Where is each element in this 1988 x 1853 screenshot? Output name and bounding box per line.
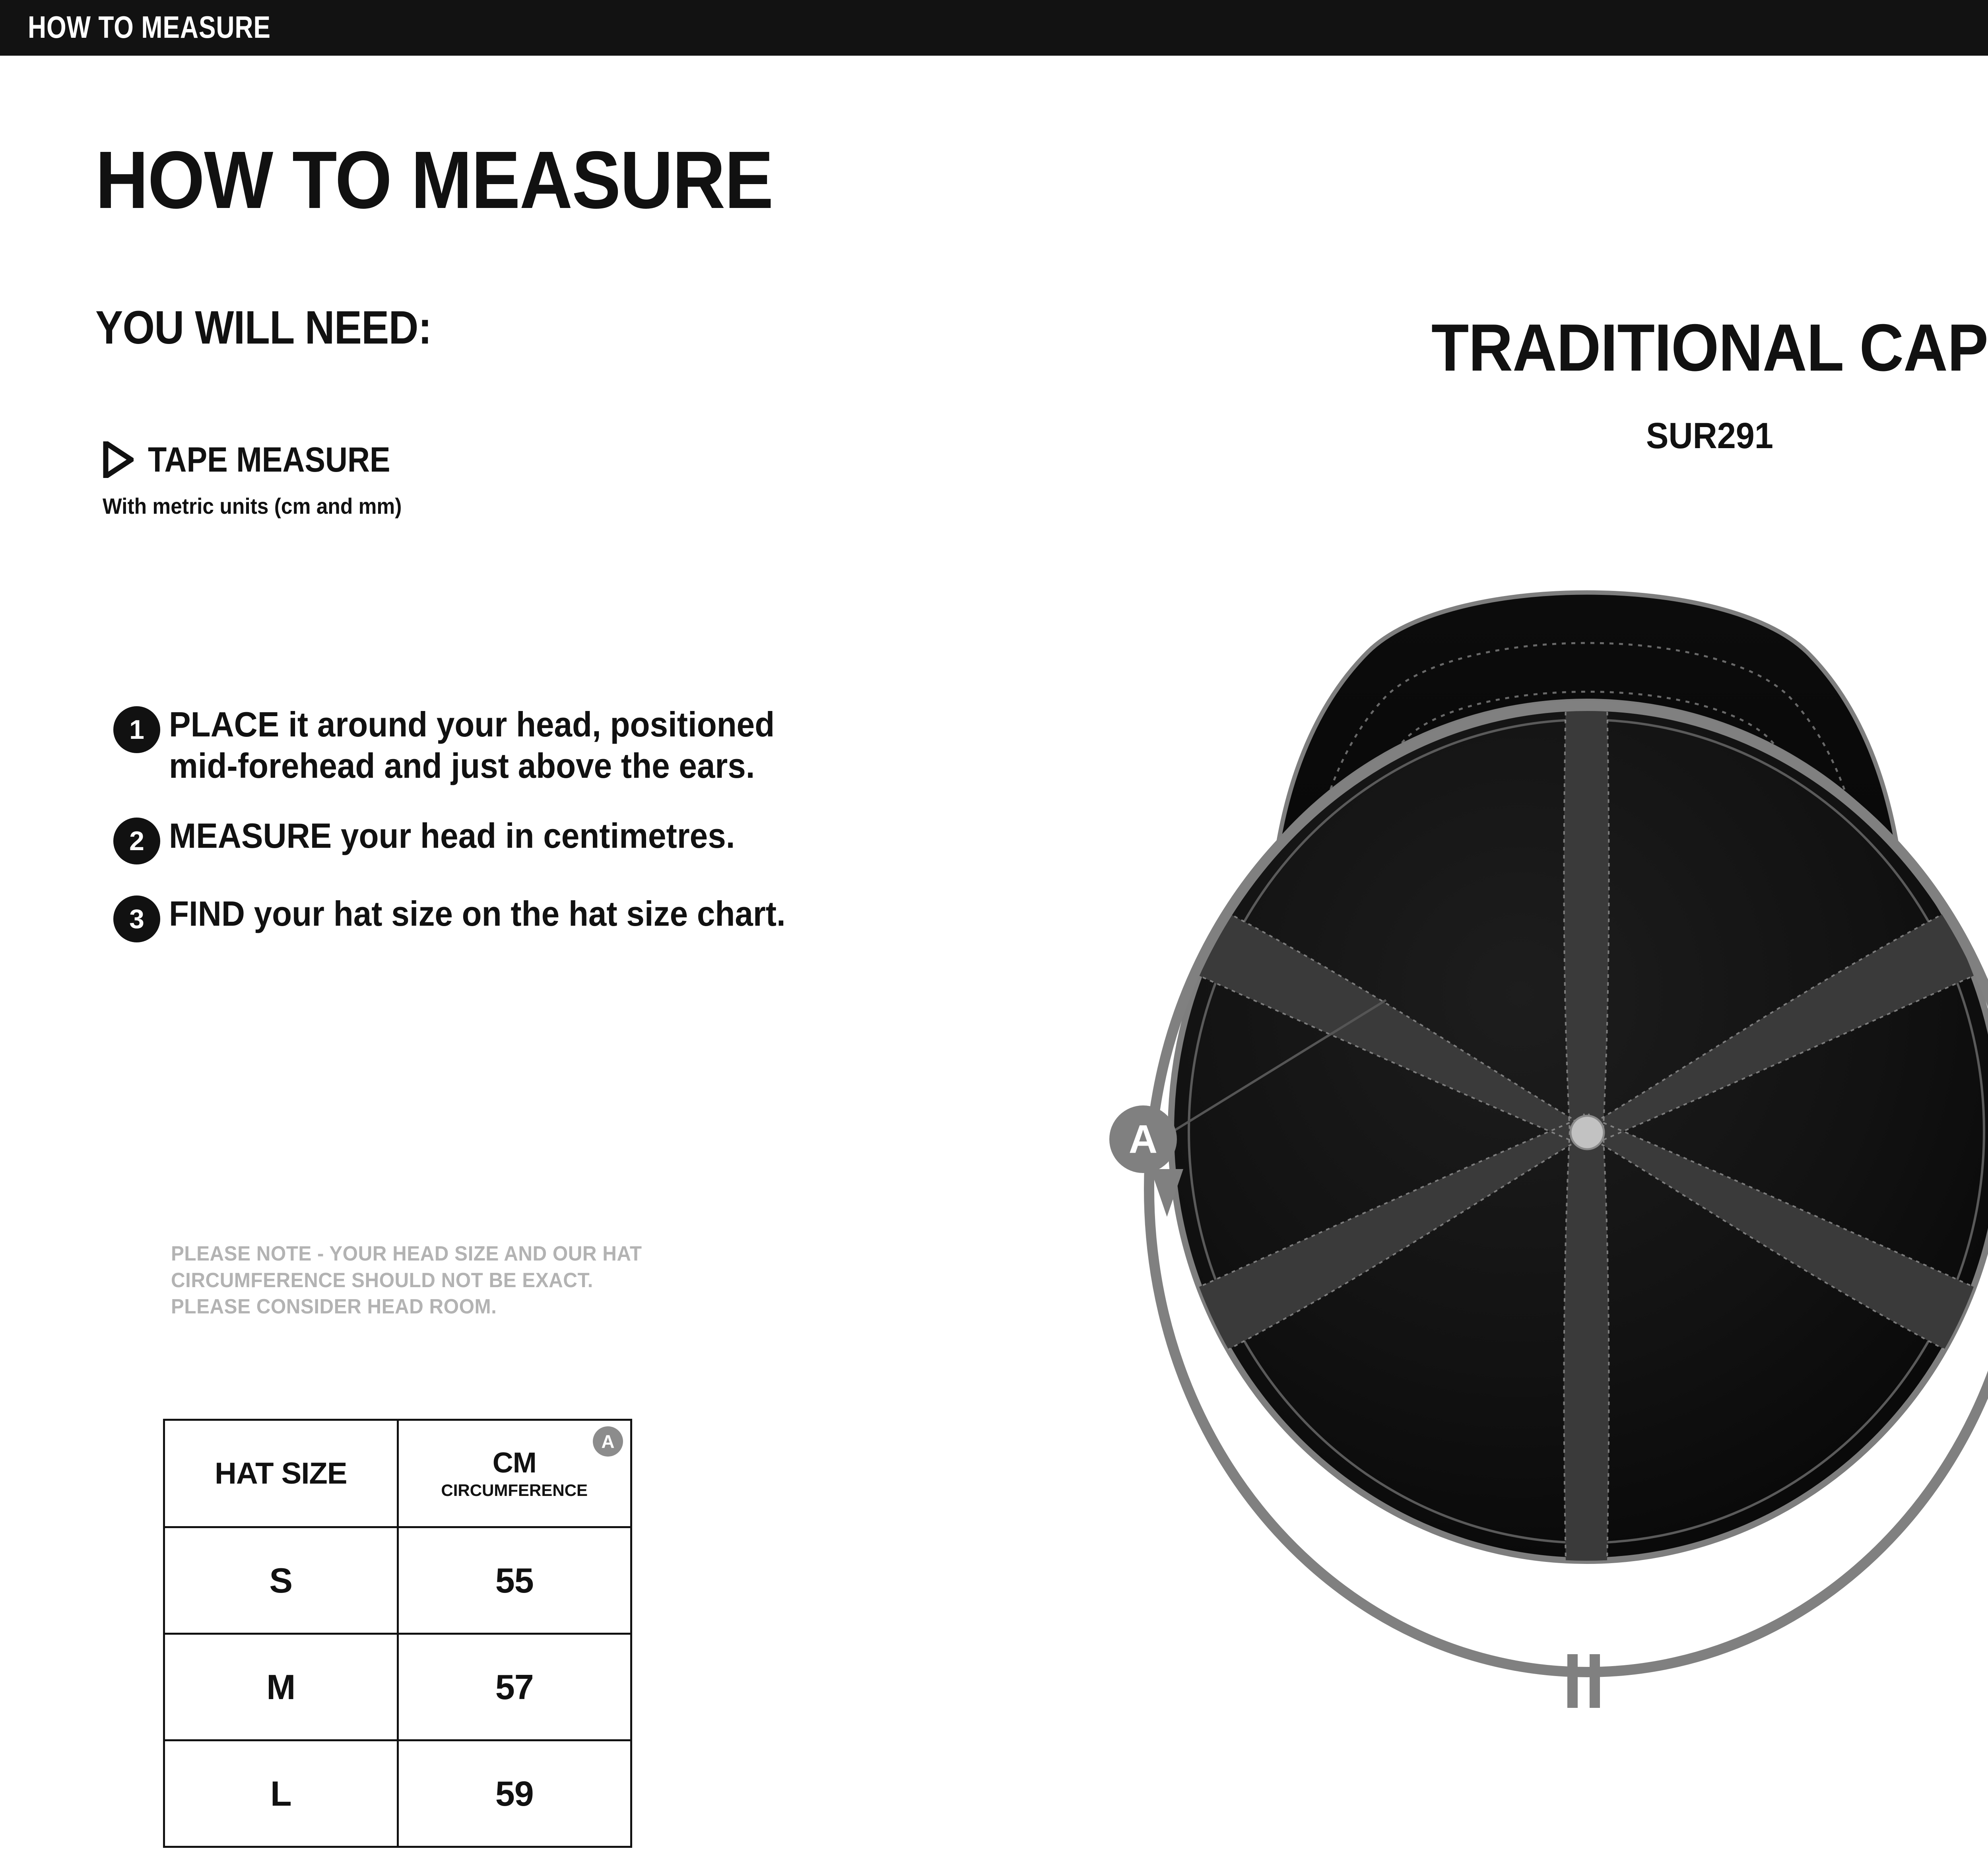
cell-value: 57 xyxy=(399,1667,631,1707)
product-code: SUR291 xyxy=(1216,418,1988,454)
step-item: 1 PLACE it around your head, positioned … xyxy=(113,704,869,787)
ring-end-tick-left xyxy=(1567,1654,1578,1708)
table-header-row: HAT SIZE CM CIRCUMFERENCE A xyxy=(164,1420,631,1527)
hat-size-chart-table: HAT SIZE CM CIRCUMFERENCE A S 55 M 57 L … xyxy=(163,1419,632,1848)
step-number-badge: 1 xyxy=(113,706,160,753)
table-row: S 55 xyxy=(164,1527,631,1634)
step-item: 3 FIND your hat size on the hat size cha… xyxy=(113,893,869,942)
header-sublabel: CIRCUMFERENCE xyxy=(399,1482,631,1499)
app-header-bar: HOW TO MEASURE SURRIDGE xyxy=(0,0,1988,56)
step-text: MEASURE your head in centimetres. xyxy=(169,815,798,857)
tool-subtitle: With metric units (cm and mm) xyxy=(103,495,402,517)
tool-item-tape-measure: TAPE MEASURE xyxy=(103,441,423,478)
table-row: M 57 xyxy=(164,1634,631,1740)
callout-badge-a-figure: A xyxy=(1109,1105,1177,1173)
cell-cm: 55 xyxy=(398,1527,631,1634)
header-label: CM xyxy=(399,1449,631,1477)
page-title: HOW TO MEASURE xyxy=(95,139,773,221)
cell-value: 59 xyxy=(399,1773,631,1814)
cell-size: S xyxy=(164,1527,398,1634)
cell-value: S xyxy=(165,1560,397,1601)
you-will-need-heading: YOU WILL NEED: xyxy=(95,304,431,351)
cell-cm: 57 xyxy=(398,1634,631,1740)
disclaimer-note: PLEASE NOTE - YOUR HEAD SIZE AND OUR HAT… xyxy=(171,1241,775,1320)
cap-diagram xyxy=(1066,549,1988,1853)
step-item: 2 MEASURE your head in centimetres. xyxy=(113,815,869,864)
header-title: HOW TO MEASURE xyxy=(28,9,271,45)
header-cell-hat-size: HAT SIZE xyxy=(164,1420,398,1527)
header-label: HAT SIZE xyxy=(165,1459,397,1489)
callout-badge-a: A xyxy=(593,1426,623,1457)
steps-list: 1 PLACE it around your head, positioned … xyxy=(113,704,869,971)
cell-value: 55 xyxy=(399,1560,631,1601)
step-number-badge: 3 xyxy=(113,895,160,942)
table-row: L 59 xyxy=(164,1740,631,1847)
triangle-right-icon xyxy=(103,441,134,478)
tool-label: TAPE MEASURE xyxy=(148,442,390,477)
cell-size: M xyxy=(164,1634,398,1740)
step-text: FIND your hat size on the hat size chart… xyxy=(169,893,798,934)
ring-end-tick-right xyxy=(1590,1654,1600,1708)
cell-value: M xyxy=(165,1667,397,1707)
cell-size: L xyxy=(164,1740,398,1847)
step-text: PLACE it around your head, positioned mi… xyxy=(169,704,798,787)
header-cell-cm: CM CIRCUMFERENCE A xyxy=(398,1420,631,1527)
crown-button xyxy=(1571,1116,1604,1149)
cell-value: L xyxy=(165,1773,397,1814)
step-number-badge: 2 xyxy=(113,818,160,864)
cell-cm: 59 xyxy=(398,1740,631,1847)
product-title: TRADITIONAL CAP xyxy=(1216,314,1988,381)
